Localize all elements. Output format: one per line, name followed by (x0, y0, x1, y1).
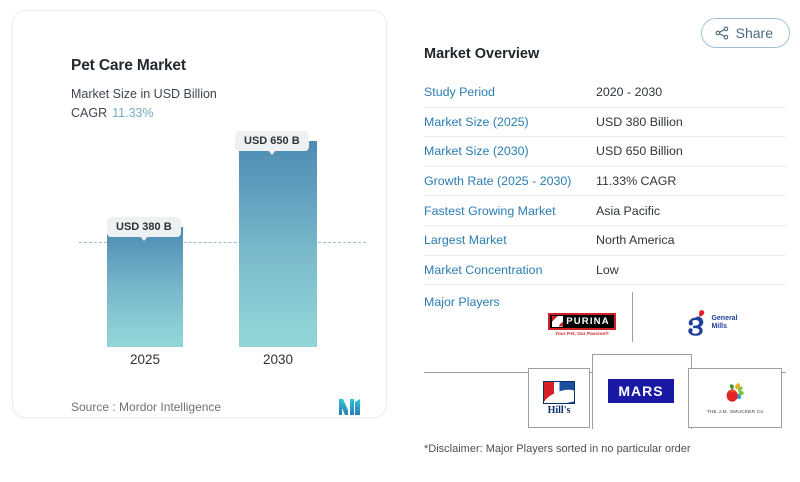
logo-hills: Hill's (528, 368, 590, 428)
mars-wordmark: MARS (608, 379, 673, 403)
purina-wordmark: PURINA (566, 316, 610, 327)
source-text: Source : Mordor Intelligence (71, 400, 221, 414)
row-label: Market Size (2025) (424, 115, 596, 129)
table-row: Growth Rate (2025 - 2030) 11.33% CAGR (424, 167, 786, 197)
row-value: Asia Pacific (596, 204, 660, 218)
chart-card: Pet Care Market Market Size in USD Billi… (12, 10, 387, 418)
general-mills-g-icon (686, 310, 708, 336)
logo-mars: MARS (592, 354, 690, 428)
row-label: Growth Rate (2025 - 2030) (424, 174, 596, 188)
row-label: Study Period (424, 85, 596, 99)
row-label: Market Size (2030) (424, 144, 596, 158)
row-value: 11.33% CAGR (596, 174, 676, 188)
bar-value-label-2030: USD 650 B (235, 131, 309, 151)
general-mills-line2: Mills (711, 323, 737, 332)
x-axis-tick-2025: 2025 (105, 352, 185, 367)
purina-checker-icon (552, 316, 563, 327)
row-value: USD 650 Billion (596, 144, 683, 158)
smucker-fruit-icon (719, 381, 751, 405)
logo-general-mills: General Mills (664, 302, 760, 344)
share-icon (715, 26, 729, 40)
overview-title: Market Overview (424, 46, 786, 62)
bar-chart-plot: USD 380 B USD 650 B 2025 2030 (71, 129, 366, 369)
source-label: Source : (71, 400, 116, 414)
logo-smucker: THE J.M. SMUCKER Co (688, 368, 782, 428)
row-value: 2020 - 2030 (596, 85, 662, 99)
table-row: Market Size (2030) USD 650 Billion (424, 137, 786, 167)
cagr-value: 11.33% (112, 106, 153, 120)
table-row: Market Size (2025) USD 380 Billion (424, 108, 786, 138)
purina-logomark: PURINA (548, 313, 616, 330)
chart-cagr: CAGR11.33% (71, 106, 154, 120)
purina-tagline: Your Pet, Our Passion® (548, 331, 616, 336)
smucker-wordmark: THE J.M. SMUCKER Co (707, 410, 764, 415)
table-row: Fastest Growing Market Asia Pacific (424, 196, 786, 226)
bar-2025 (107, 227, 183, 347)
row-value: North America (596, 233, 675, 247)
share-button[interactable]: Share (701, 18, 790, 48)
bar-2030 (239, 141, 317, 347)
general-mills-line1: General (711, 315, 737, 324)
x-axis-tick-2030: 2030 (238, 352, 318, 367)
report-snapshot-page: Pet Care Market Market Size in USD Billi… (0, 0, 800, 482)
row-value: USD 380 Billion (596, 115, 683, 129)
mordor-intelligence-logo (339, 399, 361, 415)
chart-title: Pet Care Market (71, 57, 186, 75)
share-label: Share (736, 25, 773, 41)
table-row: Market Concentration Low (424, 256, 786, 286)
row-label: Largest Market (424, 233, 596, 247)
market-overview-panel: Market Overview Study Period 2020 - 2030… (424, 46, 786, 319)
source-name: Mordor Intelligence (119, 400, 221, 414)
general-mills-wordmark: General Mills (711, 315, 737, 332)
source-row: Source : Mordor Intelligence (71, 399, 361, 415)
disclaimer-text: *Disclaimer: Major Players sorted in no … (424, 443, 691, 455)
major-players-logo-grid: PURINA Your Pet, Our Passion® General Mi… (424, 292, 786, 428)
table-row: Study Period 2020 - 2030 (424, 78, 786, 108)
row-label: Fastest Growing Market (424, 204, 596, 218)
row-value: Low (596, 263, 619, 277)
table-row: Largest Market North America (424, 226, 786, 256)
bar-value-label-2025: USD 380 B (107, 217, 181, 237)
grid-divider-vertical (632, 292, 633, 342)
hills-wordmark: Hill's (543, 405, 575, 416)
hills-logomark (543, 381, 575, 404)
chart-subtitle: Market Size in USD Billion (71, 87, 217, 101)
row-label: Market Concentration (424, 263, 596, 277)
cagr-label: CAGR (71, 106, 107, 120)
logo-purina: PURINA Your Pet, Our Passion® (534, 304, 630, 344)
